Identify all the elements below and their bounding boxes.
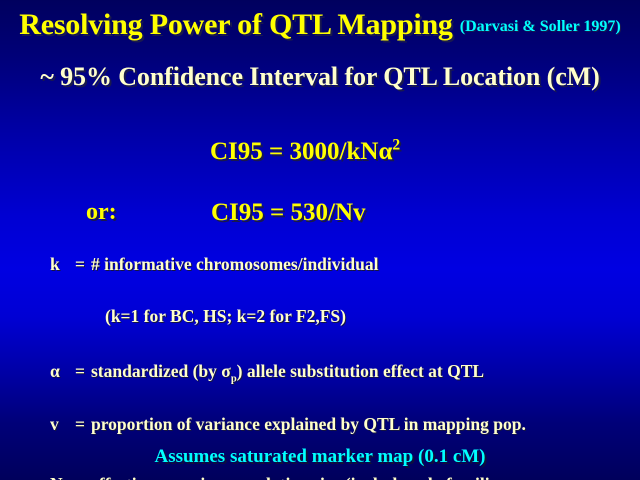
definition-symbol-n: N <box>50 474 74 480</box>
definition-text-alpha-after: ) allele substitution effect at QTL <box>237 361 484 381</box>
definition-equals-n: = <box>75 474 85 480</box>
definition-equals-k: = <box>75 254 85 275</box>
definition-text-alpha-before: standardized (by <box>91 361 221 381</box>
definition-list: k = # informative chromosomes/individual… <box>0 254 640 410</box>
definition-symbol-v: v <box>50 414 74 435</box>
definition-row-k-note: (k=1 for BC, HS; k=2 for F2,FS) <box>0 306 640 332</box>
definition-row-alpha: α = standardized (by σp) allele substitu… <box>0 361 640 387</box>
definition-text-k-note: (k=1 for BC, HS; k=2 for F2,FS) <box>105 306 346 327</box>
definition-row-v: v = proportion of variance explained by … <box>0 414 640 440</box>
formula-ci95-alpha: CI95 = 3000/kNα2 <box>210 139 400 164</box>
definition-text-v: proportion of variance explained by QTL … <box>91 414 526 435</box>
footer-note: Assumes saturated marker map (0.1 cM) <box>0 446 640 468</box>
exponent-two: 2 <box>392 137 400 154</box>
or-label: or: <box>86 200 117 224</box>
definition-text-k: # informative chromosomes/individual <box>91 254 378 275</box>
definition-symbol-k: k <box>50 254 74 275</box>
definition-row-n: N = effective mapping population size (i… <box>0 474 640 480</box>
slide-canvas: Resolving Power of QTL Mapping(Darvasi &… <box>0 0 640 480</box>
greek-sigma-symbol: σ <box>221 361 231 381</box>
title-row: Resolving Power of QTL Mapping(Darvasi &… <box>0 8 640 42</box>
formula-lhs: CI95 = 3000/kN <box>210 138 378 165</box>
definition-text-alpha: standardized (by σp) allele substitution… <box>91 361 484 382</box>
formula-ci95-v: CI95 = 530/Nv <box>211 200 366 225</box>
page-title: Resolving Power of QTL Mapping <box>19 8 452 41</box>
definition-row-k: k = # informative chromosomes/individual <box>0 254 640 280</box>
definition-equals-alpha: = <box>75 361 85 382</box>
citation-reference: (Darvasi & Soller 1997) <box>460 18 621 35</box>
subtitle: ~ 95% Confidence Interval for QTL Locati… <box>0 62 640 92</box>
definition-equals-v: = <box>75 414 85 435</box>
greek-alpha-symbol: α <box>378 138 392 165</box>
definition-symbol-alpha: α <box>50 361 74 382</box>
definition-text-n: effective mapping population size (inclu… <box>91 474 504 480</box>
